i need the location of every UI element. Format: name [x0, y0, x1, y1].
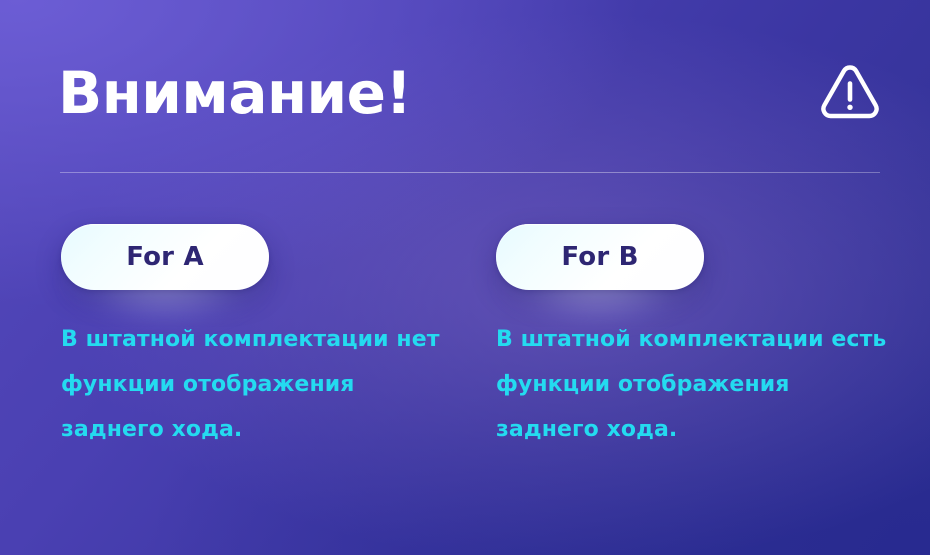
- column-for-b: For B В штатной комплектации есть функци…: [496, 210, 916, 474]
- warning-screen: Внимание! For A В штатной комплектации н…: [0, 0, 930, 555]
- header: Внимание!: [0, 0, 930, 172]
- comparison-columns: For A В штатной комплектации нет функции…: [0, 210, 930, 510]
- column-for-a: For A В штатной комплектации нет функции…: [61, 210, 481, 474]
- warning-triangle-icon: [816, 58, 884, 126]
- pill-wrapper-a: For A: [61, 210, 269, 290]
- header-divider: [60, 172, 880, 173]
- for-a-description: В штатной комплектации нет функции отобр…: [61, 317, 461, 452]
- for-b-button-label: For B: [561, 242, 638, 272]
- for-a-button-label: For A: [126, 242, 204, 272]
- pill-wrapper-b: For B: [496, 210, 704, 290]
- for-b-description: В штатной комплектации есть функции отоб…: [496, 317, 896, 452]
- for-b-button[interactable]: For B: [496, 224, 704, 290]
- for-a-button[interactable]: For A: [61, 224, 269, 290]
- page-title: Внимание!: [58, 55, 411, 131]
